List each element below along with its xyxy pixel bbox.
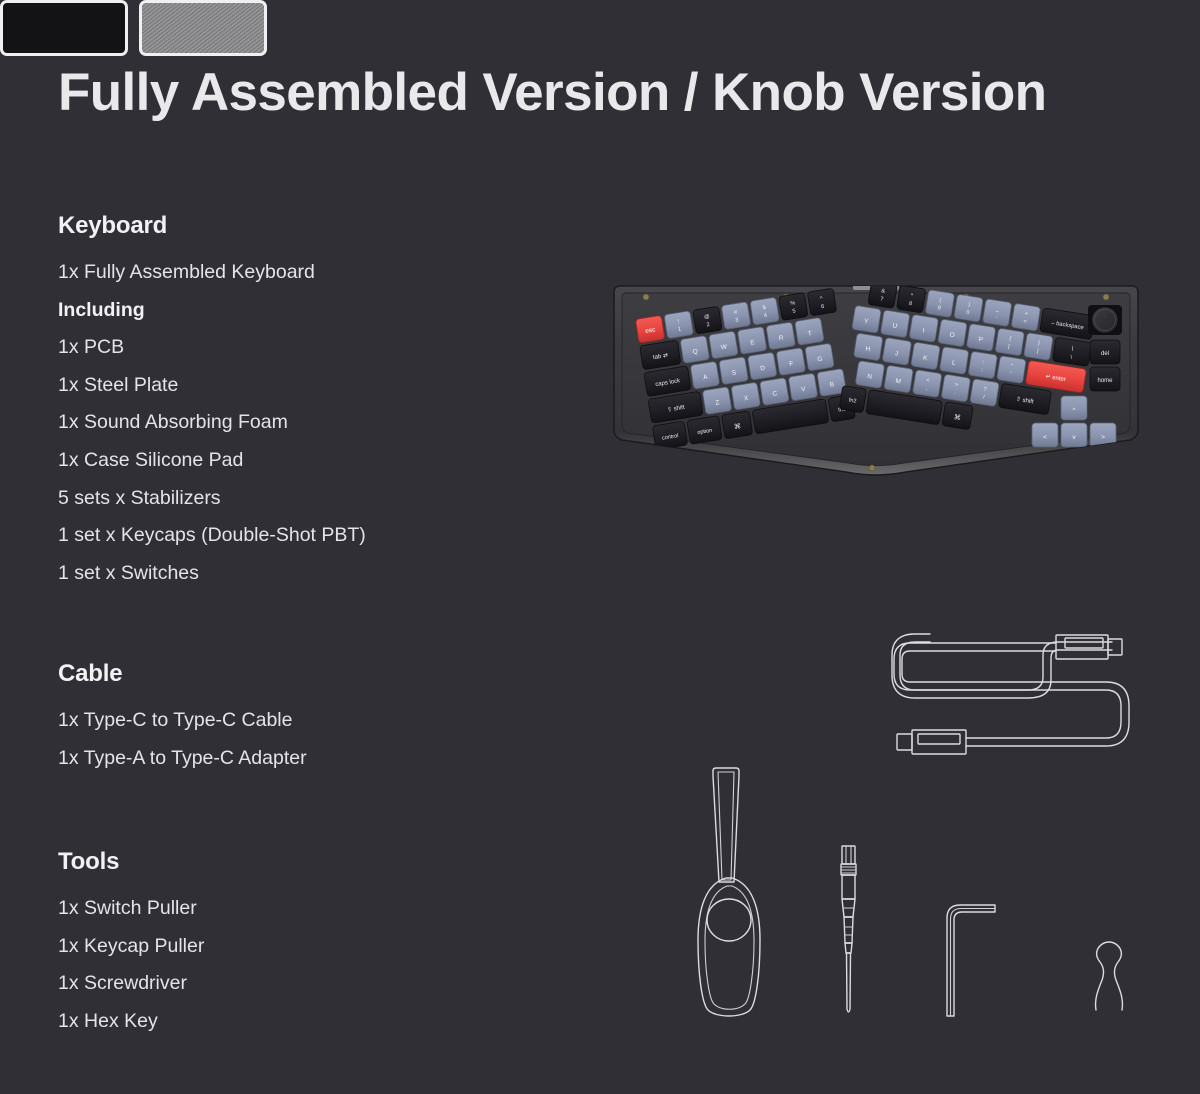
svg-text:Q: Q xyxy=(692,348,698,356)
list-item: 1x Steel Plate xyxy=(58,367,488,405)
section-cable: Cable 1x Type-C to Type-C Cable 1x Type-… xyxy=(58,660,488,777)
list-item: 1x Switch Puller xyxy=(58,890,488,928)
sound-absorbing-foam-swatch xyxy=(139,0,267,56)
svg-text:>: > xyxy=(1101,434,1105,441)
list-item: 1x PCB xyxy=(58,329,488,367)
list-item: 1 set x Switches xyxy=(58,555,488,593)
svg-text:del: del xyxy=(1101,351,1109,357)
section-title-tools: Tools xyxy=(58,848,488,876)
list-item: 1x Screwdriver xyxy=(58,965,488,1003)
keyboard-photo: esc ! 1 @ 2 # 3 $ 4 % xyxy=(606,280,1146,478)
svg-text:home: home xyxy=(1097,378,1113,384)
list-item: 1 set x Keycaps (Double-Shot PBT) xyxy=(58,517,488,555)
material-swatches xyxy=(0,0,268,56)
list-item: 1x Fully Assembled Keyboard xyxy=(58,254,488,292)
svg-text:⌘: ⌘ xyxy=(733,422,741,431)
svg-text:O: O xyxy=(949,332,955,340)
switch-puller-illustration xyxy=(692,762,766,1018)
list-item: 1x Hex Key xyxy=(58,1003,488,1041)
section-title-cable: Cable xyxy=(58,660,488,688)
page-title: Fully Assembled Version / Knob Version xyxy=(58,62,1046,123)
svg-text:fn2: fn2 xyxy=(848,398,857,405)
section-tools: Tools 1x Switch Puller 1x Keycap Puller … xyxy=(58,848,488,1040)
list-item: 1x Sound Absorbing Foam xyxy=(58,404,488,442)
screwdriver-illustration xyxy=(833,843,863,1018)
list-item: 1x Keycap Puller xyxy=(58,928,488,966)
list-item: 1x Type-A to Type-C Adapter xyxy=(58,740,488,778)
list-item: 1x Type-C to Type-C Cable xyxy=(58,702,488,740)
list-item: Including xyxy=(58,292,488,330)
hex-key-illustration xyxy=(944,896,998,1018)
cable-illustration xyxy=(880,622,1138,767)
keycap-puller-illustration xyxy=(1078,940,1140,1012)
svg-text:<: < xyxy=(1043,434,1047,441)
svg-text:⌘: ⌘ xyxy=(953,413,961,422)
svg-text:M: M xyxy=(895,378,901,386)
page-root: Fully Assembled Version / Knob Version K… xyxy=(0,0,1200,1094)
case-silicone-pad-swatch xyxy=(0,0,128,56)
list-item: 5 sets x Stabilizers xyxy=(58,480,488,518)
list-item: 1x Case Silicone Pad xyxy=(58,442,488,480)
section-keyboard: Keyboard 1x Fully Assembled Keyboard Inc… xyxy=(58,212,488,592)
section-title-keyboard: Keyboard xyxy=(58,212,488,240)
svg-text:G: G xyxy=(817,356,823,364)
